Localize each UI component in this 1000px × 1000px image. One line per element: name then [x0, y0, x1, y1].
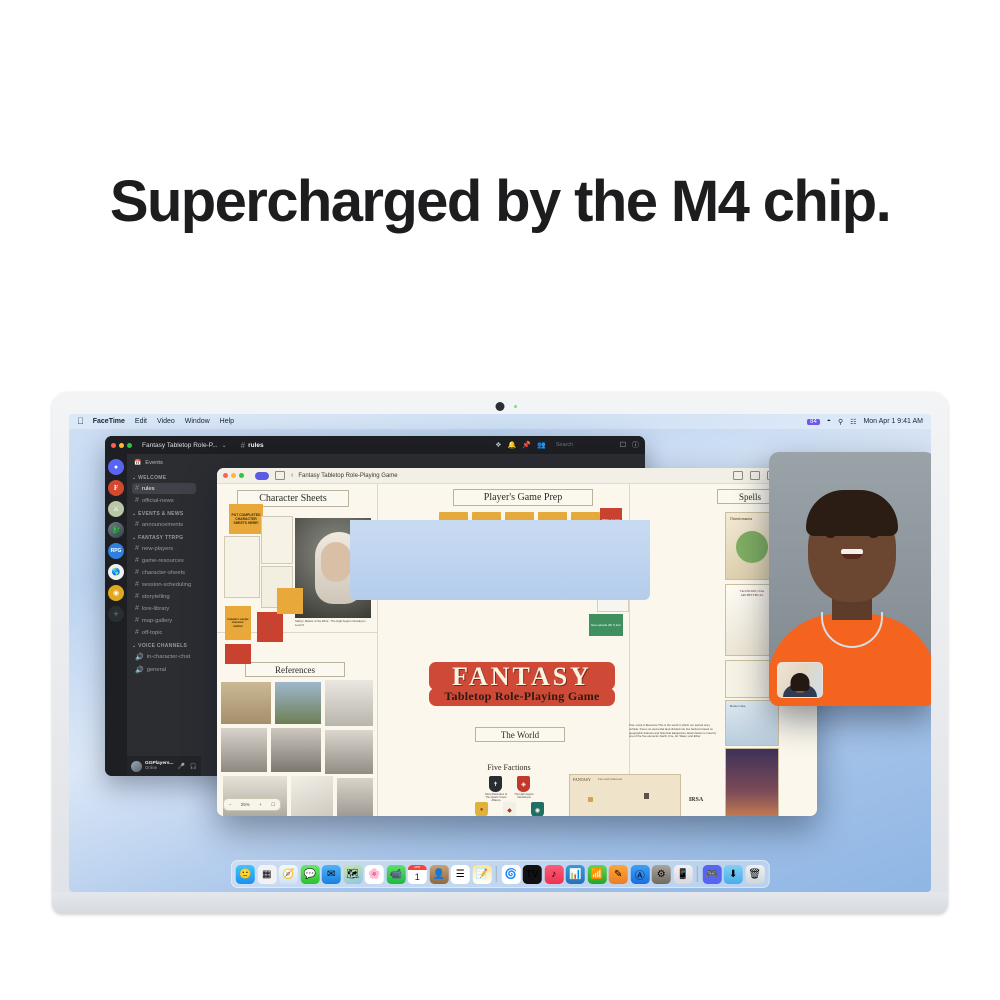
- faction-crest-2[interactable]: ◈: [517, 776, 530, 792]
- zoom-in-icon[interactable]: +: [259, 802, 262, 807]
- sidebar-toggle-button[interactable]: [255, 472, 269, 480]
- channel-label: game-resources: [142, 558, 184, 564]
- logo-title-main: FANTASY: [429, 662, 615, 690]
- board-logo[interactable]: FANTASY Tabletop Role-Playing Game: [429, 662, 615, 706]
- help-icon[interactable]: ⓘ: [632, 440, 639, 450]
- channel-label: storytelling: [142, 594, 170, 600]
- user-status: Online: [145, 766, 174, 771]
- zoom-level-label[interactable]: 25%: [241, 802, 250, 807]
- menu-item-facetime[interactable]: FaceTime: [93, 418, 125, 425]
- faction-crest-5[interactable]: ◉: [531, 802, 544, 816]
- red-card-left-2[interactable]: [225, 644, 251, 664]
- control-center-icon[interactable]: ☷: [850, 418, 856, 426]
- dock-icon-appletv[interactable]: TV: [523, 865, 542, 884]
- dock-icon-pages[interactable]: ✎: [609, 865, 628, 884]
- reference-photo-4[interactable]: [221, 728, 267, 772]
- channel-lore-library[interactable]: #lore-library: [132, 603, 196, 614]
- sticky-note-left[interactable]: Isabelle's sample character: Aadhuri: [225, 606, 251, 640]
- server-icon-dragon[interactable]: 🐉: [108, 522, 124, 538]
- channel-session-scheduling[interactable]: #session-scheduling: [132, 579, 196, 590]
- hash-icon: #: [135, 521, 139, 528]
- self-view-hair: [791, 673, 810, 691]
- channel-label: new-players: [142, 546, 173, 552]
- hash-icon: #: [135, 629, 139, 636]
- faction-crest-3[interactable]: ●: [475, 802, 488, 816]
- hash-icon: #: [135, 497, 139, 504]
- dock-icon-calendar[interactable]: APR1: [408, 865, 427, 884]
- discord-toolbar[interactable]: ❖ 🔔 📌 👥 Search ☐ ⓘ: [495, 440, 639, 450]
- world-map[interactable]: FANTASY It'sa, Land of Elements: [569, 774, 681, 816]
- reference-photo-3[interactable]: [325, 680, 373, 726]
- channel-list[interactable]: 📅 Events ⌄ WELCOME#rules#official-news⌄ …: [127, 454, 201, 756]
- zoom-out-icon[interactable]: −: [229, 802, 232, 807]
- avatar[interactable]: [131, 761, 142, 772]
- channel-general[interactable]: 🔊general: [132, 664, 196, 676]
- bell-icon[interactable]: 🔔: [508, 441, 517, 449]
- dock-icon-numbers[interactable]: 📶: [587, 865, 606, 884]
- dock-icon-maps[interactable]: 🗺: [343, 865, 362, 884]
- speaker-icon: 🔊: [135, 653, 144, 661]
- channel-map-gallery[interactable]: #map-gallery: [132, 615, 196, 626]
- dock-icon-launchpad[interactable]: ▦: [257, 865, 276, 884]
- sticky-note-sample-character[interactable]: [277, 588, 303, 614]
- character-sheet-thumb-2[interactable]: [261, 516, 293, 564]
- macos-dock[interactable]: 🙂▦🧭💬✉🗺🌸📹APR1👤☰📝🌀TV♪📊📶✎Ⓐ⚙📱🎮⬇🗑: [231, 860, 770, 888]
- pin-icon[interactable]: 📌: [522, 441, 531, 449]
- dock-icon-discord[interactable]: 🎮: [702, 865, 721, 884]
- server-icon-gold[interactable]: ◉: [108, 585, 124, 601]
- close-icon[interactable]: [111, 443, 116, 448]
- camera-indicator-icon: [514, 405, 517, 408]
- channel-category[interactable]: ⌄ FANTASY TTRPG: [132, 535, 196, 541]
- wifi-icon[interactable]: ◓: [827, 418, 831, 425]
- grid-view-button[interactable]: [275, 471, 285, 480]
- dock-icon-music[interactable]: ♪: [544, 865, 563, 884]
- channel-category[interactable]: ⌄ VOICE CHANNELS: [132, 643, 196, 649]
- dock-icon-settings[interactable]: ⚙: [652, 865, 671, 884]
- poster-fantasy-cover[interactable]: FANTASY Tabletop Role-Playing Game: [725, 748, 779, 816]
- channel-in-character-chat[interactable]: 🔊in-character-chat: [132, 651, 196, 663]
- dock-icon-contacts[interactable]: 👤: [429, 865, 448, 884]
- dock-icon-keynote[interactable]: 📊: [566, 865, 585, 884]
- add-server-button[interactable]: +: [108, 606, 124, 622]
- map-sublabel: It'sa, Land of Elements: [598, 778, 622, 781]
- channel-off-topic[interactable]: #off-topic: [132, 627, 196, 638]
- speaker-icon: 🔊: [135, 666, 144, 674]
- microphone-icon[interactable]: 🎤: [178, 763, 185, 770]
- page-title: Supercharged by the M4 chip.: [0, 168, 1000, 235]
- channel-game-resources[interactable]: #game-resources: [132, 555, 196, 566]
- channel-label: in-character-chat: [147, 654, 191, 660]
- channel-character-sheets[interactable]: #character-sheets: [132, 567, 196, 578]
- minimize-icon[interactable]: [119, 443, 124, 448]
- board-title: Fantasy Tabletop Role-Playing Game: [298, 473, 397, 479]
- channel-label: off-topic: [142, 630, 163, 636]
- facetime-window[interactable]: [769, 452, 931, 706]
- hash-icon: #: [135, 581, 139, 588]
- channel-category[interactable]: ⌄ EVENTS & NEWS: [132, 511, 196, 517]
- hash-icon: #: [135, 545, 139, 552]
- dock-icon-messages[interactable]: 💬: [300, 865, 319, 884]
- close-icon[interactable]: [223, 473, 228, 478]
- server-icon-fantasy[interactable]: F: [108, 480, 124, 496]
- character-caption: Sathyn, Bastor of the Wind · The High Ae…: [295, 620, 369, 628]
- chevron-left-icon[interactable]: ‹: [291, 472, 293, 479]
- zoom-control[interactable]: 25% − 25% + ☐: [223, 798, 281, 811]
- dock-icon-finder[interactable]: 🙂: [236, 865, 255, 884]
- dock-icon-safari[interactable]: 🧭: [279, 865, 298, 884]
- red-card-left[interactable]: 🦋: [257, 612, 283, 642]
- server-rail[interactable]: ● F ⚔ 🐉 RPG 🌎 ◉ +: [105, 454, 127, 776]
- dock-separator: [496, 866, 497, 882]
- channel-label: character-sheets: [142, 570, 185, 576]
- dock-icon-facetime[interactable]: 📹: [386, 865, 405, 884]
- section-header-references[interactable]: References: [245, 662, 345, 677]
- minimize-icon[interactable]: [231, 473, 236, 478]
- headphones-icon[interactable]: 🎧: [190, 763, 197, 770]
- channel-label: lore-library: [142, 606, 169, 612]
- dock-icon-iphone-mirroring[interactable]: 📱: [673, 865, 692, 884]
- maximize-icon[interactable]: [239, 473, 244, 478]
- hash-icon: #: [241, 441, 245, 450]
- channel-sidebar[interactable]: 📅 Events ⌄ WELCOME#rules#official-news⌄ …: [127, 454, 201, 776]
- faction-crest-label-1: Silvro Defenders of The Quartz Crown All…: [483, 793, 509, 802]
- channel-official-news[interactable]: #official-news: [132, 495, 196, 506]
- menubar-clock[interactable]: Mon Apr 1 9:41 AM: [863, 418, 923, 425]
- menu-item-edit[interactable]: Edit: [135, 418, 147, 425]
- channel-label: rules: [142, 486, 155, 492]
- dock-icon-mail[interactable]: ✉: [322, 865, 341, 884]
- green-note-new-episode[interactable]: New episode (Mt 7) live!: [589, 614, 623, 636]
- reference-photo-5[interactable]: [271, 728, 321, 772]
- webcam-icon: [496, 402, 505, 411]
- caller-mouth: [841, 549, 863, 559]
- events-label: Events: [145, 460, 163, 466]
- search-input[interactable]: Search: [552, 440, 614, 450]
- server-icon-discord-home[interactable]: ●: [108, 459, 124, 475]
- user-panel[interactable]: GGPlayers... Online 🎤 🎧: [127, 756, 201, 776]
- channel-label: general: [147, 667, 166, 673]
- members-icon[interactable]: 👥: [537, 441, 546, 449]
- imac-device:  FaceTime Edit Video Window Help 84 ◓ ⚲…: [52, 392, 948, 922]
- page-root: Supercharged by the M4 chip.  FaceTime …: [0, 0, 1000, 1000]
- menu-item-help[interactable]: Help: [220, 418, 234, 425]
- reference-drawing-elf[interactable]: [291, 776, 333, 816]
- dock-icon-freeform[interactable]: 🌀: [501, 865, 520, 884]
- faction-crest-label-2: The High Aegis's Clamathyun: [511, 793, 537, 799]
- server-icon-sword[interactable]: ⚔: [108, 501, 124, 517]
- caller-hair: [806, 490, 898, 536]
- reference-photo-6[interactable]: [325, 730, 373, 774]
- dock-icon-notes[interactable]: 📝: [472, 865, 491, 884]
- channel-label: announcements: [142, 522, 183, 528]
- server-icon-globe[interactable]: 🌎: [108, 564, 124, 580]
- reference-photo-2[interactable]: [275, 682, 321, 724]
- dock-icon-trash[interactable]: 🗑: [745, 865, 764, 884]
- chevron-down-icon[interactable]: ⌄: [222, 442, 227, 449]
- hash-icon: #: [135, 569, 139, 576]
- hash-icon: #: [135, 485, 139, 492]
- menu-item-window[interactable]: Window: [185, 418, 210, 425]
- character-sheet-thumb-1[interactable]: [224, 536, 260, 598]
- channel-new-players[interactable]: #new-players: [132, 543, 196, 554]
- reference-photo-1[interactable]: [221, 682, 271, 724]
- active-channel-name: rules: [248, 442, 264, 449]
- calendar-day: 1: [408, 870, 427, 884]
- dock-icon-reminders[interactable]: ☰: [451, 865, 470, 884]
- macos-menubar[interactable]:  FaceTime Edit Video Window Help 84 ◓ ⚲…: [69, 414, 931, 429]
- freeform-titlebar[interactable]: ‹ Fantasy Tabletop Role-Playing Game: [217, 468, 817, 484]
- map-label: FANTASY: [573, 777, 591, 782]
- apple-icon[interactable]: : [77, 417, 84, 426]
- threads-icon[interactable]: ❖: [495, 441, 501, 449]
- menu-item-video[interactable]: Video: [157, 418, 175, 425]
- discord-server-title[interactable]: Fantasy Tabletop Role-P...: [142, 442, 218, 449]
- channel-label: official-news: [142, 498, 174, 504]
- channel-label: map-gallery: [142, 618, 172, 624]
- shapes-button[interactable]: [733, 471, 743, 480]
- irsa-label: IRSA: [683, 794, 709, 805]
- hash-icon: #: [135, 593, 139, 600]
- faction-crest-4[interactable]: ◆: [503, 802, 516, 816]
- channel-announcements[interactable]: #announcements: [132, 519, 196, 530]
- channel-rules[interactable]: #rules: [132, 483, 196, 494]
- world-description: It'sa, Land of Elements This is the worl…: [629, 724, 717, 739]
- calendar-icon: 📅: [134, 460, 141, 466]
- poster-raise-cake[interactable]: Raise Cake: [725, 700, 779, 746]
- sticky-note-instruction[interactable]: PUT COMPLETED CHARACTER SHEETS HERE!: [229, 504, 263, 534]
- events-nav-item[interactable]: 📅 Events: [132, 458, 196, 470]
- search-icon[interactable]: ⚲: [838, 418, 843, 426]
- channel-storytelling[interactable]: #storytelling: [132, 591, 196, 602]
- display-chin: [52, 892, 948, 914]
- server-icon-rpg[interactable]: RPG: [108, 543, 124, 559]
- section-header-the-world[interactable]: The World: [475, 727, 565, 742]
- channel-label: session-scheduling: [142, 582, 191, 588]
- dock-icon-appstore[interactable]: Ⓐ: [630, 865, 649, 884]
- user-info: GGPlayers... Online: [145, 761, 174, 771]
- fit-screen-icon[interactable]: ☐: [271, 802, 275, 808]
- sticky-note-button[interactable]: [750, 471, 760, 480]
- hash-icon: #: [135, 557, 139, 564]
- facetime-self-view[interactable]: [777, 662, 823, 698]
- inbox-icon[interactable]: ☐: [620, 441, 626, 449]
- dock-icon-downloads-folder[interactable]: ⬇: [724, 865, 743, 884]
- section-header-five-factions[interactable]: Five Factions: [469, 761, 549, 774]
- dock-icon-photos[interactable]: 🌸: [365, 865, 384, 884]
- channel-categories: ⌄ WELCOME#rules#official-news⌄ EVENTS & …: [132, 475, 196, 676]
- discord-titlebar[interactable]: Fantasy Tabletop Role-P... ⌄ # rules ❖ 🔔…: [105, 436, 645, 454]
- maximize-icon[interactable]: [127, 443, 132, 448]
- faction-crest-1[interactable]: ✝: [489, 776, 502, 792]
- hash-icon: #: [135, 605, 139, 612]
- battery-icon[interactable]: 84: [807, 419, 820, 425]
- logo-title-sub: Tabletop Role-Playing Game: [429, 688, 615, 706]
- hash-icon: #: [135, 617, 139, 624]
- dock-separator: [697, 866, 698, 882]
- imac-stand: [350, 520, 650, 600]
- channel-category[interactable]: ⌄ WELCOME: [132, 475, 196, 481]
- reference-photo-8[interactable]: [337, 778, 373, 816]
- desktop-screen:  FaceTime Edit Video Window Help 84 ◓ ⚲…: [69, 414, 931, 892]
- section-header-game-prep[interactable]: Player's Game Prep: [453, 489, 593, 506]
